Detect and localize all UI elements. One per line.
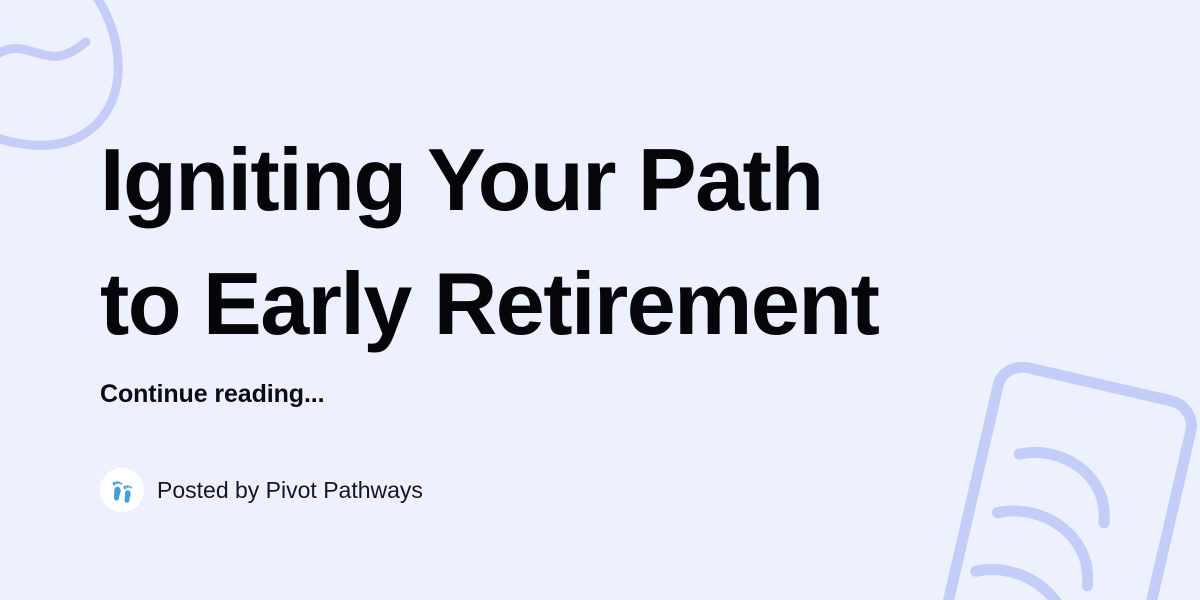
blog-post-share-card: Igniting Your Path to Early Retirement C… [0,0,1200,600]
continue-reading-link[interactable]: Continue reading... [100,380,325,409]
avatar [100,468,144,512]
byline: Posted by Pivot Pathways [100,468,423,512]
footprints-icon [107,475,137,505]
byline-text: Posted by Pivot Pathways [157,477,423,504]
page-title: Igniting Your Path to Early Retirement [100,118,1110,366]
card-content: Igniting Your Path to Early Retirement C… [100,0,1120,600]
